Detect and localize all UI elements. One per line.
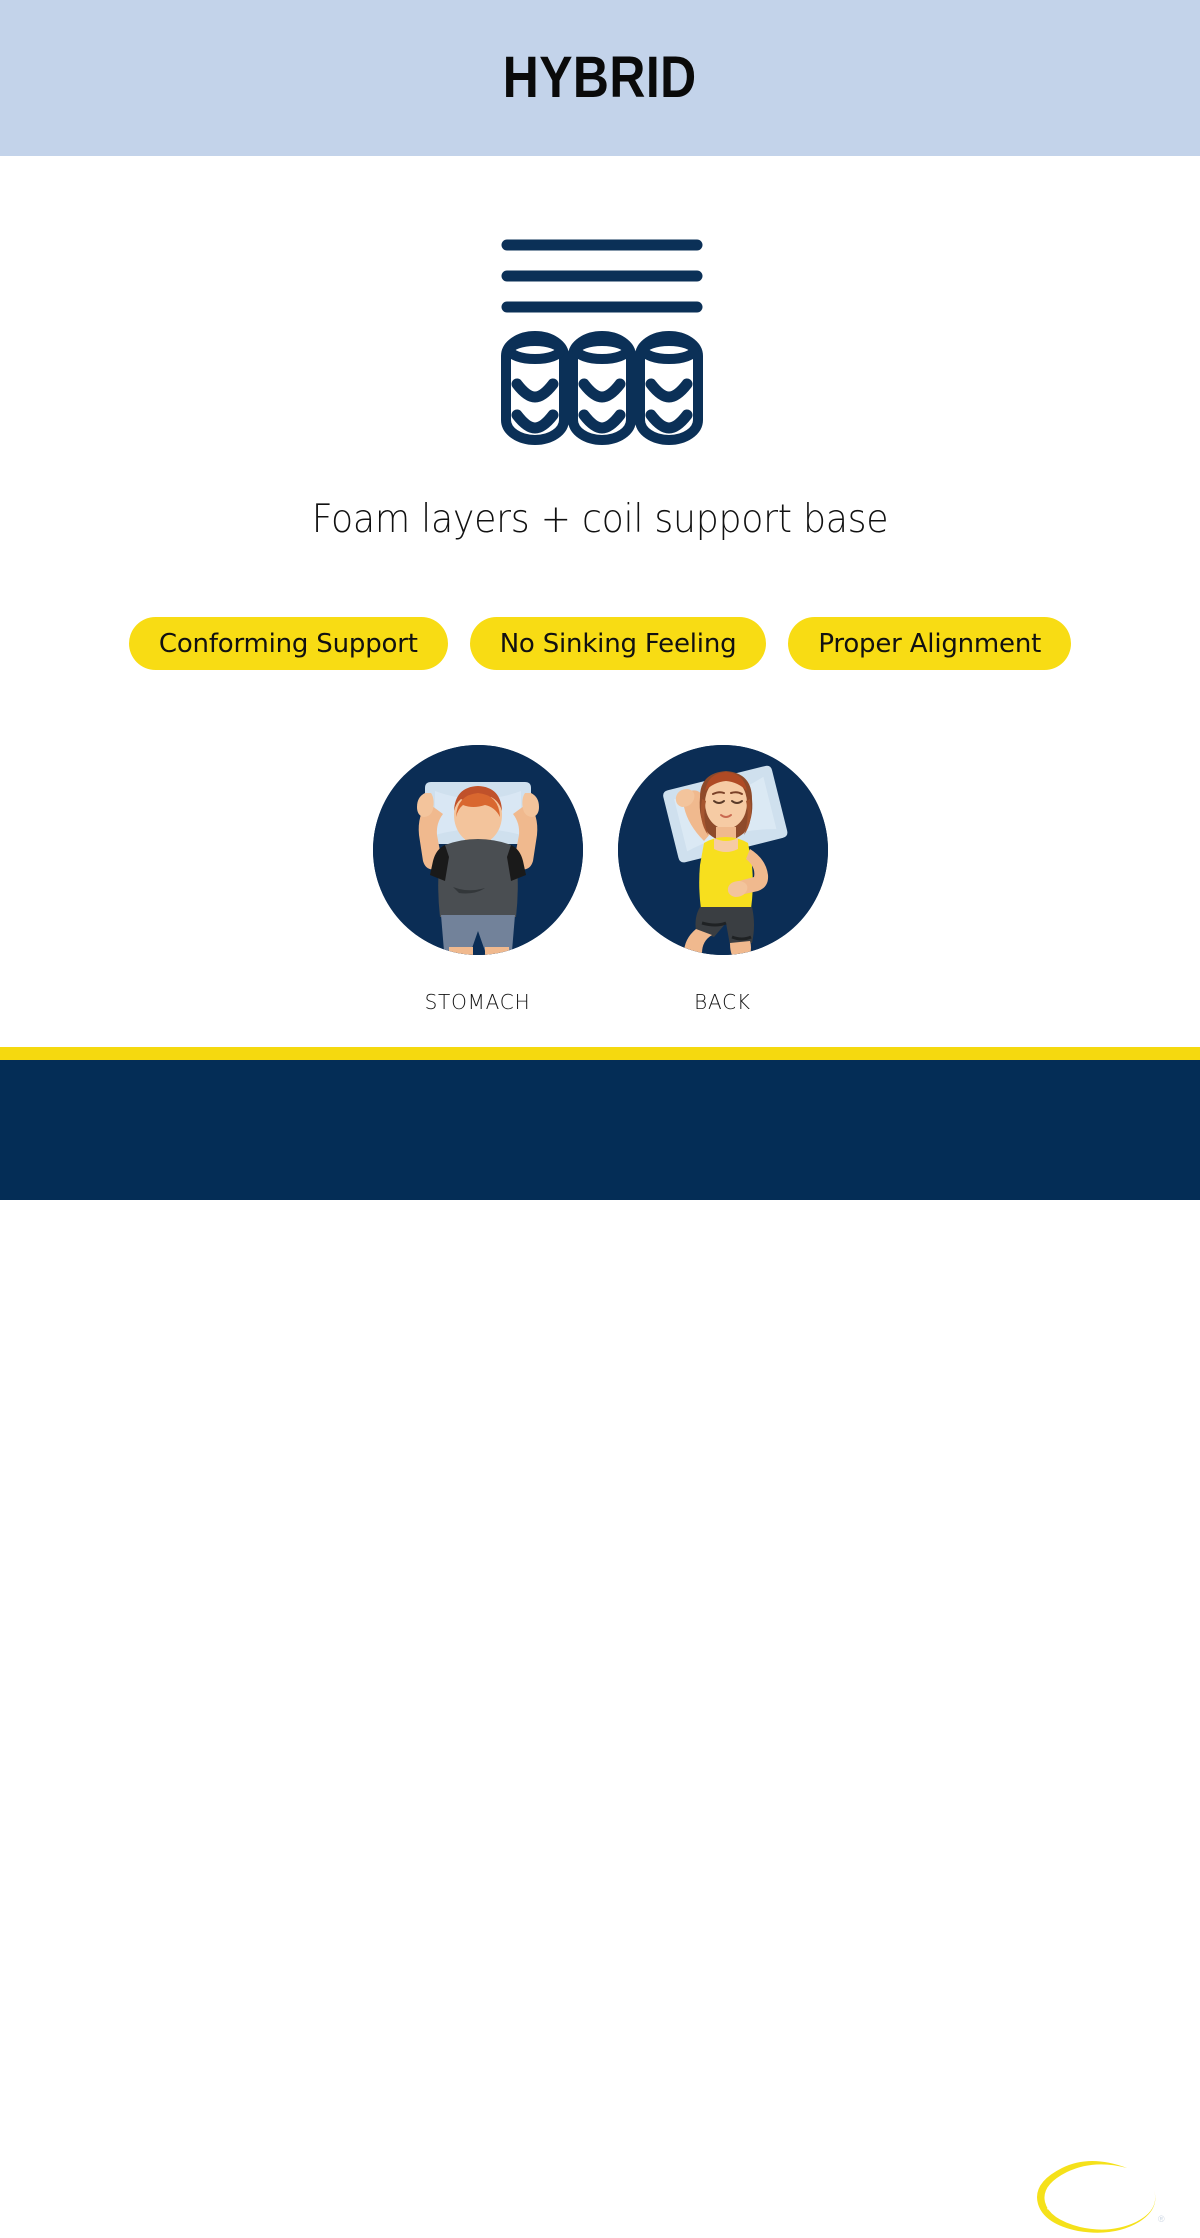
- sleep-position-back[interactable]: BACK: [618, 745, 828, 1014]
- support-coil-2: [573, 336, 631, 440]
- support-coil-3: [640, 336, 698, 440]
- back-sleeper-circle: [618, 745, 828, 955]
- feature-badge-list: Conforming Support No Sinking Feeling Pr…: [0, 617, 1200, 670]
- sleep-position-label-back: BACK: [694, 990, 751, 1014]
- badge-no-sinking-feeling[interactable]: No Sinking Feeling: [470, 617, 767, 670]
- badge-conforming-support[interactable]: Conforming Support: [129, 617, 448, 670]
- serta-wordmark: Serta: [1046, 2171, 1141, 2220]
- footer-accent-stripe: [0, 1047, 1200, 1060]
- tank-top: [699, 837, 753, 909]
- hybrid-mattress-icon: [490, 228, 714, 446]
- sleep-position-list: STOMACH: [0, 745, 1200, 1014]
- subtitle: Foam layers + coil support base: [42, 497, 1158, 542]
- support-coil-1: [506, 336, 564, 440]
- back-sleeper-illustration: [618, 745, 828, 955]
- shirt: [430, 839, 526, 917]
- sleep-position-label-stomach: STOMACH: [425, 990, 531, 1014]
- trademark-symbol: ®: [1158, 2214, 1165, 2224]
- footer-band: Serta ®: [0, 1060, 1200, 1200]
- head: [705, 772, 747, 829]
- sleep-position-stomach[interactable]: STOMACH: [373, 745, 583, 1014]
- badge-proper-alignment[interactable]: Proper Alignment: [788, 617, 1071, 670]
- page-title: HYBRID: [503, 49, 697, 107]
- head: [454, 786, 502, 844]
- serta-logo[interactable]: Serta ®: [1022, 2152, 1172, 2238]
- stomach-sleeper-illustration: [373, 745, 583, 955]
- stomach-sleeper-circle: [373, 745, 583, 955]
- header-band: HYBRID: [0, 0, 1200, 156]
